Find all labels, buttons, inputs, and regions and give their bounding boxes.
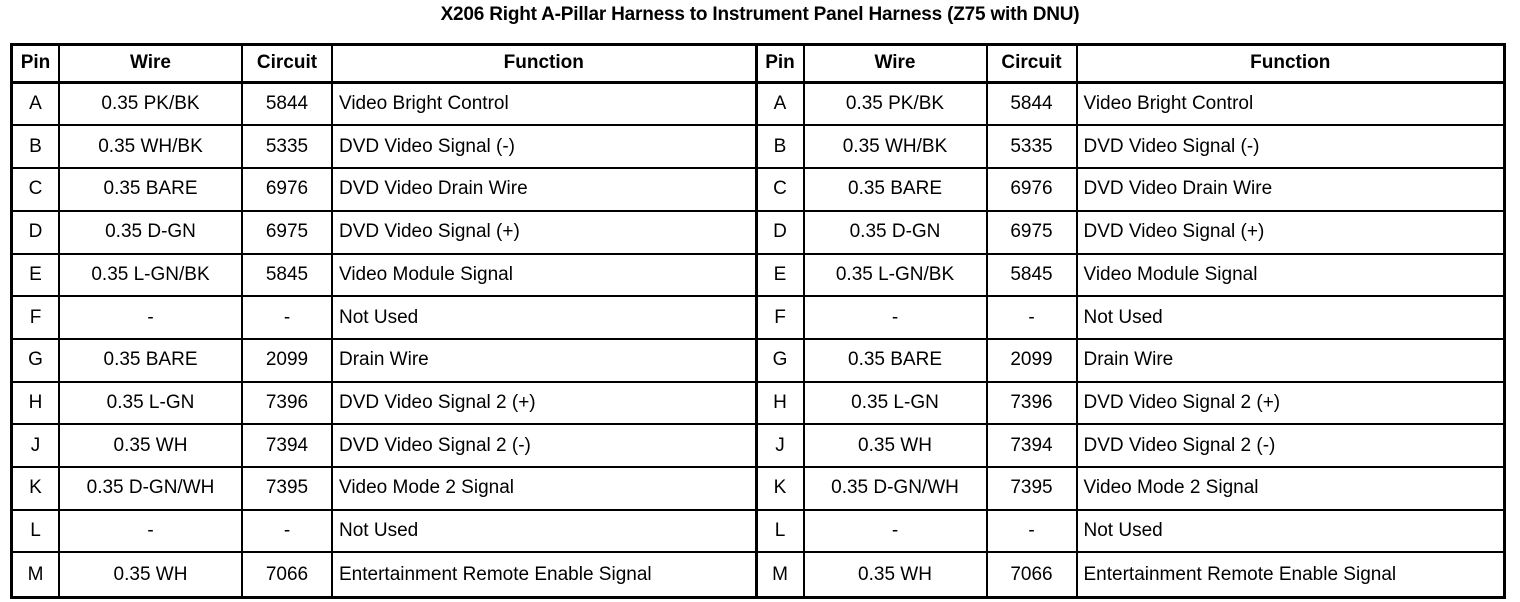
cell-pin: B	[758, 126, 805, 167]
cell-pin: F	[758, 297, 805, 338]
cell-pin: C	[13, 169, 60, 210]
cell-circuit: 5844	[988, 84, 1078, 125]
table-body-right: A0.35 PK/BK5844Video Bright ControlB0.35…	[758, 84, 1504, 596]
cell-function: Video Bright Control	[1078, 84, 1504, 125]
table-header-row: Pin Wire Circuit Function	[758, 46, 1504, 84]
cell-pin: D	[13, 212, 60, 253]
cell-circuit: -	[988, 297, 1078, 338]
cell-function: DVD Video Signal 2 (+)	[1078, 383, 1504, 424]
cell-wire: 0.35 WH	[60, 553, 243, 596]
table-row: K0.35 D-GN/WH7395Video Mode 2 Signal	[13, 468, 755, 511]
table-row: J0.35 WH7394DVD Video Signal 2 (-)	[13, 425, 755, 468]
connector-table-right: Pin Wire Circuit Function A0.35 PK/BK584…	[758, 46, 1504, 596]
cell-pin: K	[758, 468, 805, 509]
wiring-table-page: X206 Right A-Pillar Harness to Instrumen…	[0, 0, 1520, 602]
cell-pin: C	[758, 169, 805, 210]
table-row: C0.35 BARE6976DVD Video Drain Wire	[758, 169, 1504, 212]
cell-function: Drain Wire	[333, 340, 755, 381]
cell-circuit: 7066	[988, 553, 1078, 596]
cell-wire: 0.35 D-GN	[60, 212, 243, 253]
column-header-circuit: Circuit	[243, 46, 333, 81]
cell-pin: J	[758, 425, 805, 466]
cell-circuit: 6976	[988, 169, 1078, 210]
cell-pin: B	[13, 126, 60, 167]
cell-circuit: 5844	[243, 84, 333, 125]
table-row: B0.35 WH/BK5335DVD Video Signal (-)	[13, 126, 755, 169]
cell-circuit: 7395	[988, 468, 1078, 509]
cell-pin: H	[13, 383, 60, 424]
cell-wire: 0.35 BARE	[805, 340, 988, 381]
cell-function: Drain Wire	[1078, 340, 1504, 381]
table-body-left: A0.35 PK/BK5844Video Bright ControlB0.35…	[13, 84, 755, 596]
cell-wire: 0.35 WH/BK	[60, 126, 243, 167]
cell-circuit: -	[243, 511, 333, 552]
cell-function: Video Module Signal	[1078, 255, 1504, 296]
cell-circuit: 7396	[988, 383, 1078, 424]
cell-wire: 0.35 PK/BK	[805, 84, 988, 125]
table-row: A0.35 PK/BK5844Video Bright Control	[758, 84, 1504, 127]
table-row: K0.35 D-GN/WH7395Video Mode 2 Signal	[758, 468, 1504, 511]
cell-wire: 0.35 BARE	[805, 169, 988, 210]
table-header-row: Pin Wire Circuit Function	[13, 46, 755, 84]
cell-function: Not Used	[1078, 297, 1504, 338]
table-row: J0.35 WH7394DVD Video Signal 2 (-)	[758, 425, 1504, 468]
cell-pin: M	[13, 553, 60, 596]
cell-wire: -	[805, 511, 988, 552]
cell-circuit: 5845	[243, 255, 333, 296]
table-row: E0.35 L-GN/BK5845Video Module Signal	[758, 255, 1504, 298]
cell-wire: 0.35 WH	[60, 425, 243, 466]
cell-circuit: 7396	[243, 383, 333, 424]
cell-pin: L	[758, 511, 805, 552]
table-row: M0.35 WH7066Entertainment Remote Enable …	[13, 553, 755, 596]
cell-pin: H	[758, 383, 805, 424]
cell-wire: -	[60, 297, 243, 338]
cell-function: Video Bright Control	[333, 84, 755, 125]
cell-pin: K	[13, 468, 60, 509]
cell-pin: D	[758, 212, 805, 253]
cell-wire: 0.35 BARE	[60, 169, 243, 210]
column-header-function: Function	[1078, 46, 1504, 81]
cell-wire: -	[805, 297, 988, 338]
cell-circuit: 2099	[988, 340, 1078, 381]
cell-circuit: 7394	[243, 425, 333, 466]
cell-pin: J	[13, 425, 60, 466]
table-row: G0.35 BARE2099Drain Wire	[758, 340, 1504, 383]
cell-wire: 0.35 WH/BK	[805, 126, 988, 167]
cell-wire: 0.35 D-GN/WH	[805, 468, 988, 509]
cell-wire: 0.35 PK/BK	[60, 84, 243, 125]
table-row: H0.35 L-GN7396DVD Video Signal 2 (+)	[13, 383, 755, 426]
cell-function: Not Used	[333, 297, 755, 338]
table-row: E0.35 L-GN/BK5845Video Module Signal	[13, 255, 755, 298]
cell-circuit: 6975	[988, 212, 1078, 253]
cell-pin: E	[13, 255, 60, 296]
cell-circuit: 7395	[243, 468, 333, 509]
column-header-wire: Wire	[805, 46, 988, 81]
harness-pinout-table: Pin Wire Circuit Function A0.35 PK/BK584…	[10, 43, 1506, 599]
cell-pin: F	[13, 297, 60, 338]
cell-function: Not Used	[1078, 511, 1504, 552]
connector-table-left: Pin Wire Circuit Function A0.35 PK/BK584…	[13, 46, 758, 596]
cell-pin: E	[758, 255, 805, 296]
cell-circuit: 7394	[988, 425, 1078, 466]
cell-pin: G	[13, 340, 60, 381]
column-header-pin: Pin	[758, 46, 805, 81]
cell-circuit: 2099	[243, 340, 333, 381]
cell-wire: 0.35 BARE	[60, 340, 243, 381]
table-row: A0.35 PK/BK5844Video Bright Control	[13, 84, 755, 127]
cell-function: DVD Video Signal 2 (+)	[333, 383, 755, 424]
cell-circuit: -	[988, 511, 1078, 552]
table-row: C0.35 BARE6976DVD Video Drain Wire	[13, 169, 755, 212]
cell-circuit: 7066	[243, 553, 333, 596]
column-header-pin: Pin	[13, 46, 60, 81]
table-row: F--Not Used	[13, 297, 755, 340]
table-row: L--Not Used	[758, 511, 1504, 554]
column-header-circuit: Circuit	[988, 46, 1078, 81]
cell-wire: -	[60, 511, 243, 552]
cell-function: DVD Video Signal 2 (-)	[333, 425, 755, 466]
table-row: L--Not Used	[13, 511, 755, 554]
cell-function: DVD Video Drain Wire	[333, 169, 755, 210]
cell-wire: 0.35 D-GN/WH	[60, 468, 243, 509]
cell-circuit: 5845	[988, 255, 1078, 296]
cell-wire: 0.35 L-GN	[60, 383, 243, 424]
table-row: M0.35 WH7066Entertainment Remote Enable …	[758, 553, 1504, 596]
cell-function: DVD Video Signal (-)	[333, 126, 755, 167]
cell-circuit: 6975	[243, 212, 333, 253]
column-header-wire: Wire	[60, 46, 243, 81]
cell-wire: 0.35 L-GN/BK	[60, 255, 243, 296]
cell-function: Video Module Signal	[333, 255, 755, 296]
cell-function: Video Mode 2 Signal	[1078, 468, 1504, 509]
cell-function: DVD Video Drain Wire	[1078, 169, 1504, 210]
table-row: H0.35 L-GN7396DVD Video Signal 2 (+)	[758, 383, 1504, 426]
cell-wire: 0.35 WH	[805, 425, 988, 466]
cell-function: DVD Video Signal (+)	[1078, 212, 1504, 253]
cell-wire: 0.35 D-GN	[805, 212, 988, 253]
cell-function: DVD Video Signal 2 (-)	[1078, 425, 1504, 466]
page-title: X206 Right A-Pillar Harness to Instrumen…	[0, 4, 1520, 26]
cell-pin: L	[13, 511, 60, 552]
cell-circuit: 5335	[243, 126, 333, 167]
cell-circuit: -	[243, 297, 333, 338]
column-header-function: Function	[333, 46, 755, 81]
cell-pin: A	[758, 84, 805, 125]
table-row: B0.35 WH/BK5335DVD Video Signal (-)	[758, 126, 1504, 169]
cell-wire: 0.35 L-GN	[805, 383, 988, 424]
cell-function: Not Used	[333, 511, 755, 552]
cell-function: Entertainment Remote Enable Signal	[1078, 553, 1504, 596]
cell-wire: 0.35 WH	[805, 553, 988, 596]
cell-function: DVD Video Signal (-)	[1078, 126, 1504, 167]
cell-wire: 0.35 L-GN/BK	[805, 255, 988, 296]
cell-function: Entertainment Remote Enable Signal	[333, 553, 755, 596]
cell-circuit: 5335	[988, 126, 1078, 167]
cell-pin: M	[758, 553, 805, 596]
table-row: D0.35 D-GN6975DVD Video Signal (+)	[758, 212, 1504, 255]
cell-function: DVD Video Signal (+)	[333, 212, 755, 253]
cell-circuit: 6976	[243, 169, 333, 210]
cell-pin: A	[13, 84, 60, 125]
table-row: F--Not Used	[758, 297, 1504, 340]
table-row: G0.35 BARE2099Drain Wire	[13, 340, 755, 383]
cell-function: Video Mode 2 Signal	[333, 468, 755, 509]
cell-pin: G	[758, 340, 805, 381]
table-row: D0.35 D-GN6975DVD Video Signal (+)	[13, 212, 755, 255]
